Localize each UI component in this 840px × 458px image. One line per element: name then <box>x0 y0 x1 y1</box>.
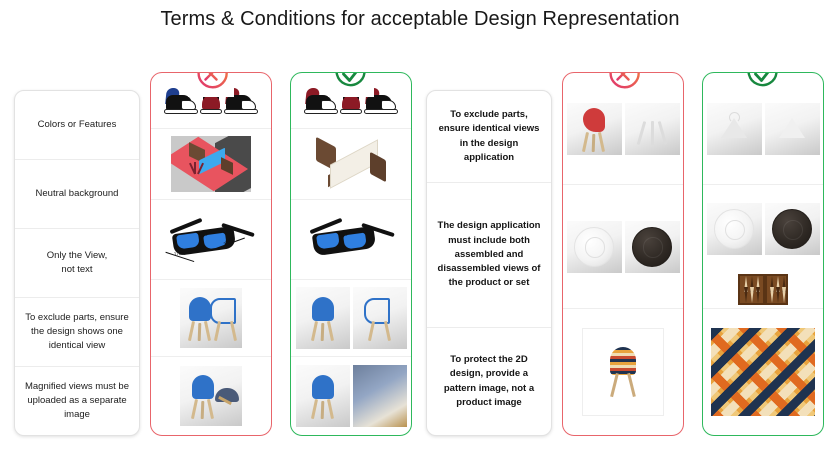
bad-examples-column-right <box>562 72 684 436</box>
isometric-bed-scene <box>171 136 251 192</box>
bad-cell-chairs-overlapping <box>151 280 271 358</box>
white-chair-assembled-photo <box>707 103 762 155</box>
white-plate-photo <box>707 203 762 255</box>
bad-cell-white-and-black-plates <box>563 185 683 309</box>
criteria-row-only-the-view: Only the View, not text <box>15 229 139 298</box>
good-cell-plates-and-backgammon <box>703 185 823 309</box>
black-plate-photo <box>765 203 820 255</box>
bad-examples-column-left: 17cm 16cm <box>150 72 272 436</box>
red-chair-photo <box>567 103 622 155</box>
middle-criteria-panel: To exclude parts, ensure identical views… <box>426 90 552 436</box>
chair-side-view-overlap <box>206 295 242 341</box>
bad-cell-bed-colored-scene <box>151 129 271 201</box>
good-cell-chair-and-separate-magnified <box>291 357 411 435</box>
criteria-row-colors-or-features: Colors or Features <box>15 91 139 160</box>
black-plate-photo <box>625 221 680 273</box>
chair-photo-full <box>296 365 350 427</box>
chevron-pattern-photo <box>711 328 815 416</box>
magnified-detail-overlay <box>215 388 239 410</box>
good-cell-chairs-two-separate-views <box>291 280 411 358</box>
backgammon-board-photo <box>738 274 788 305</box>
white-chair-disassembled-photo <box>765 103 820 155</box>
criteria-row-exclude-parts-identical-views: To exclude parts, ensure identical views… <box>427 91 551 183</box>
criteria-row-assembled-disassembled: The design application must include both… <box>427 183 551 328</box>
good-cell-sunglasses-plain <box>291 200 411 280</box>
chair-legs-only-photo <box>625 103 680 155</box>
good-examples-column-left <box>290 72 412 436</box>
page-title: Terms & Conditions for acceptable Design… <box>0 8 840 31</box>
white-plate-photo <box>567 221 622 273</box>
bad-cell-patterned-chair-product <box>563 309 683 435</box>
cross-icon <box>188 72 234 97</box>
left-criteria-panel: Colors or Features Neutral background On… <box>14 90 140 436</box>
bad-cell-chair-with-magnified-detail <box>151 357 271 435</box>
magnified-detail-photo <box>353 365 407 427</box>
good-examples-column-right <box>702 72 824 436</box>
criteria-row-2d-pattern-image: To protect the 2D design, provide a patt… <box>427 328 551 435</box>
chair-photo-side <box>353 287 407 349</box>
chair-photo-front <box>296 287 350 349</box>
criteria-row-neutral-background: Neutral background <box>15 160 139 229</box>
criteria-row-exclude-parts: To exclude parts, ensure the design show… <box>15 298 139 367</box>
patterned-chair-photo <box>582 328 664 416</box>
cross-icon <box>600 72 646 97</box>
criteria-row-magnified-views: Magnified views must be uploaded as a se… <box>15 367 139 435</box>
sunglasses-plain <box>303 218 399 262</box>
good-cell-chevron-pattern-image <box>703 309 823 435</box>
plant-icon <box>189 162 201 176</box>
check-icon <box>328 72 374 97</box>
bad-cell-sunglasses-with-dimensions: 17cm 16cm <box>151 200 271 280</box>
good-cell-bed-neutral-background <box>291 129 411 201</box>
sunglasses-annotated: 17cm 16cm <box>163 218 259 262</box>
check-icon <box>740 72 786 97</box>
bed-illustration <box>314 140 388 188</box>
